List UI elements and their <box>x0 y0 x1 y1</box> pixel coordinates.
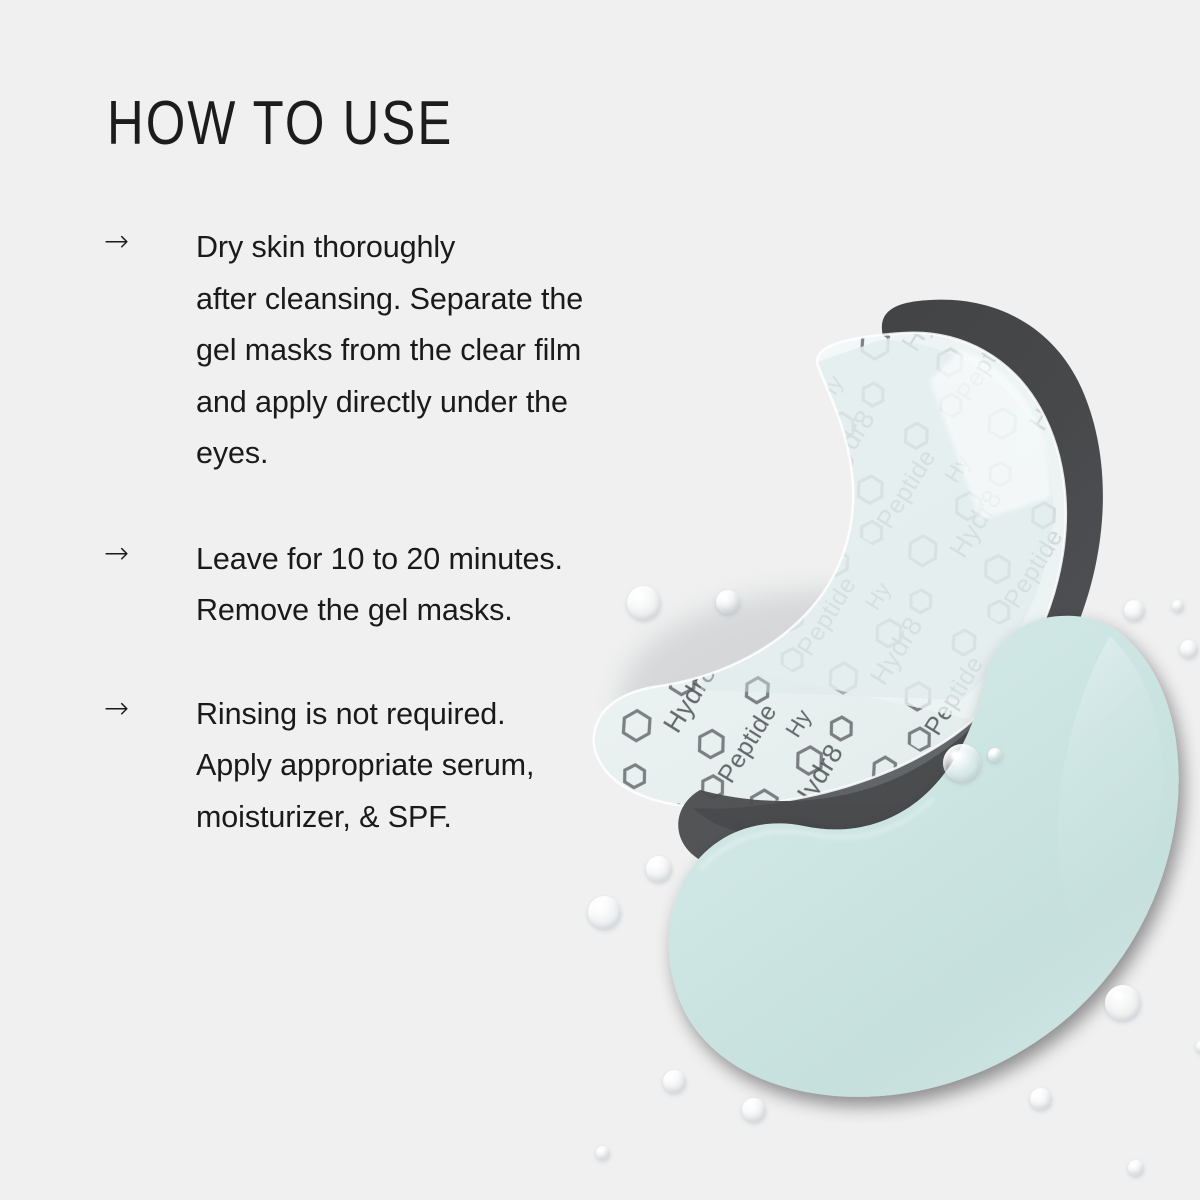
steps-list: → Dry skin thoroughly after cleansing. S… <box>0 222 700 887</box>
water-droplet <box>742 1098 766 1122</box>
water-droplet <box>988 748 1002 762</box>
water-droplet <box>943 744 981 782</box>
water-droplet <box>1124 600 1145 621</box>
water-droplet <box>1105 985 1141 1021</box>
step-text: Leave for 10 to 20 minutes. Remove the g… <box>196 534 656 637</box>
water-droplet <box>1030 1088 1052 1110</box>
step-text: Rinsing is not required. Apply appropria… <box>196 689 656 844</box>
instructions-panel: HOW TO USE → Dry skin thoroughly after c… <box>0 0 700 1200</box>
step-text: Dry skin thoroughly after cleansing. Sep… <box>196 222 656 480</box>
water-droplet <box>1172 600 1184 612</box>
how-to-use-panel: Hydr8 Peptide Hy <box>0 0 1200 1200</box>
list-item: → Dry skin thoroughly after cleansing. S… <box>0 222 700 480</box>
rightwards-arrow-icon: → <box>104 534 156 574</box>
water-droplet <box>716 590 740 614</box>
page-title: HOW TO USE <box>107 90 453 158</box>
list-item: → Rinsing is not required. Apply appropr… <box>0 689 700 844</box>
water-droplet <box>1128 1160 1144 1176</box>
list-item: → Leave for 10 to 20 minutes. Remove the… <box>0 534 700 637</box>
rightwards-arrow-icon: → <box>104 222 156 262</box>
water-droplet <box>1180 640 1198 658</box>
rightwards-arrow-icon: → <box>104 689 156 729</box>
